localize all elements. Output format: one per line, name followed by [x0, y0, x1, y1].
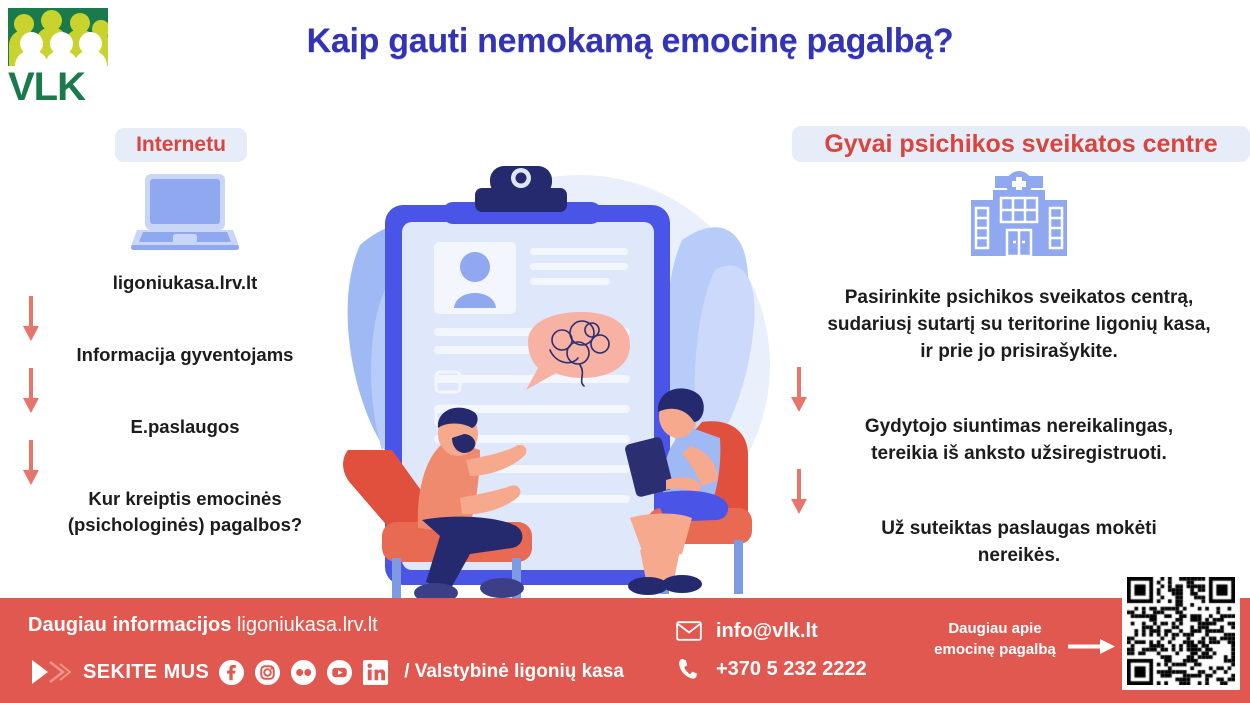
- flow-arrow-down: [788, 365, 1250, 413]
- left-step-2: Informacija gyventojams: [20, 342, 350, 368]
- envelope-icon: [676, 621, 702, 641]
- left-step-4-line1: Kur kreiptis emocinės: [20, 486, 350, 512]
- section-header-in-person: Gyvai psichikos sveikatos centre: [792, 126, 1250, 162]
- laptop-icon: [131, 172, 239, 252]
- footer-follow-label: SEKITE MUS: [83, 661, 209, 684]
- qr-caption-line2: emocinę pagalbą: [920, 639, 1070, 660]
- right-column: Pasirinkite psichikos sveikatos centrą, …: [788, 168, 1250, 569]
- page-title: Kaip gauti nemokamą emocinę pagalbą?: [140, 22, 1120, 61]
- linkedin-icon[interactable]: [362, 659, 389, 686]
- section-header-internetu-label: Internetu: [136, 133, 226, 157]
- right-step-2-line1: Gydytojo siuntimas nereikalingas,: [788, 413, 1250, 440]
- footer-phone-row[interactable]: +370 5 232 2222: [676, 650, 867, 688]
- flickr-icon[interactable]: [290, 659, 317, 686]
- right-step-1-line3: ir prie jo prisirašykite.: [788, 338, 1250, 365]
- left-step-1: ligoniukasa.lrv.lt: [20, 270, 350, 296]
- right-step-1: Pasirinkite psichikos sveikatos centrą, …: [788, 284, 1250, 365]
- left-step-4-line2: (psichologinės) pagalbos?: [20, 512, 350, 538]
- right-step-3-line1: Už suteiktas paslaugas mokėti: [788, 515, 1250, 542]
- footer-contact: info@vlk.lt +370 5 232 2222: [676, 612, 867, 688]
- vlk-logo: VLK: [8, 8, 110, 108]
- flow-arrow-down: [20, 368, 350, 414]
- footer-follow-row: SEKITE MUS: [28, 657, 624, 687]
- footer-more-info-label: Daugiau informacijos: [28, 614, 231, 636]
- footer-handle: / Valstybinė ligonių kasa: [404, 661, 624, 683]
- hospital-icon-wrap: [788, 168, 1250, 262]
- therapy-session-illustration: [330, 150, 800, 600]
- flow-arrow-down: [20, 296, 350, 342]
- laptop-icon-wrap: [20, 172, 350, 252]
- logo-text: VLK: [8, 66, 108, 108]
- logo-mark: [8, 8, 108, 66]
- double-chevron-icon: [28, 657, 74, 687]
- right-step-3: Už suteiktas paslaugas mokėti nereikės.: [788, 515, 1250, 569]
- qr-code[interactable]: [1122, 572, 1240, 690]
- footer-phone[interactable]: +370 5 232 2222: [716, 658, 867, 681]
- qr-caption: Daugiau apie emocinę pagalbą: [920, 618, 1070, 660]
- section-header-in-person-label: Gyvai psichikos sveikatos centre: [824, 130, 1217, 159]
- left-step-3: E.paslaugos: [20, 414, 350, 440]
- right-step-2-line2: tereikia iš anksto užsiregistruoti.: [788, 440, 1250, 467]
- right-step-2: Gydytojo siuntimas nereikalingas, tereik…: [788, 413, 1250, 467]
- footer-email[interactable]: info@vlk.lt: [716, 620, 818, 643]
- phone-icon: [676, 657, 702, 681]
- hospital-icon: [967, 168, 1071, 262]
- qr-code-canvas: [1127, 577, 1235, 685]
- qr-caption-line1: Daugiau apie: [920, 618, 1070, 639]
- facebook-icon[interactable]: [218, 659, 245, 686]
- arrow-right-icon: [1068, 637, 1116, 657]
- right-step-3-line2: nereikės.: [788, 542, 1250, 569]
- section-header-internetu: Internetu: [115, 128, 247, 162]
- flow-arrow-down: [20, 440, 350, 486]
- infographic-page: VLK Kaip gauti nemokamą emocinę pagalbą?…: [0, 0, 1250, 703]
- instagram-icon[interactable]: [254, 659, 281, 686]
- right-step-1-line1: Pasirinkite psichikos sveikatos centrą,: [788, 284, 1250, 311]
- right-step-1-line2: sudariusį sutartį su teritorine ligonių …: [788, 311, 1250, 338]
- youtube-icon[interactable]: [326, 659, 353, 686]
- footer-email-row[interactable]: info@vlk.lt: [676, 612, 867, 650]
- footer-more-info: Daugiau informacijos ligoniukasa.lrv.lt: [28, 614, 378, 637]
- left-column: ligoniukasa.lrv.lt Informacija gyventoja…: [20, 172, 350, 538]
- flow-arrow-down: [788, 467, 1250, 515]
- footer-website-url[interactable]: ligoniukasa.lrv.lt: [237, 614, 378, 636]
- left-step-4: Kur kreiptis emocinės (psichologinės) pa…: [20, 486, 350, 538]
